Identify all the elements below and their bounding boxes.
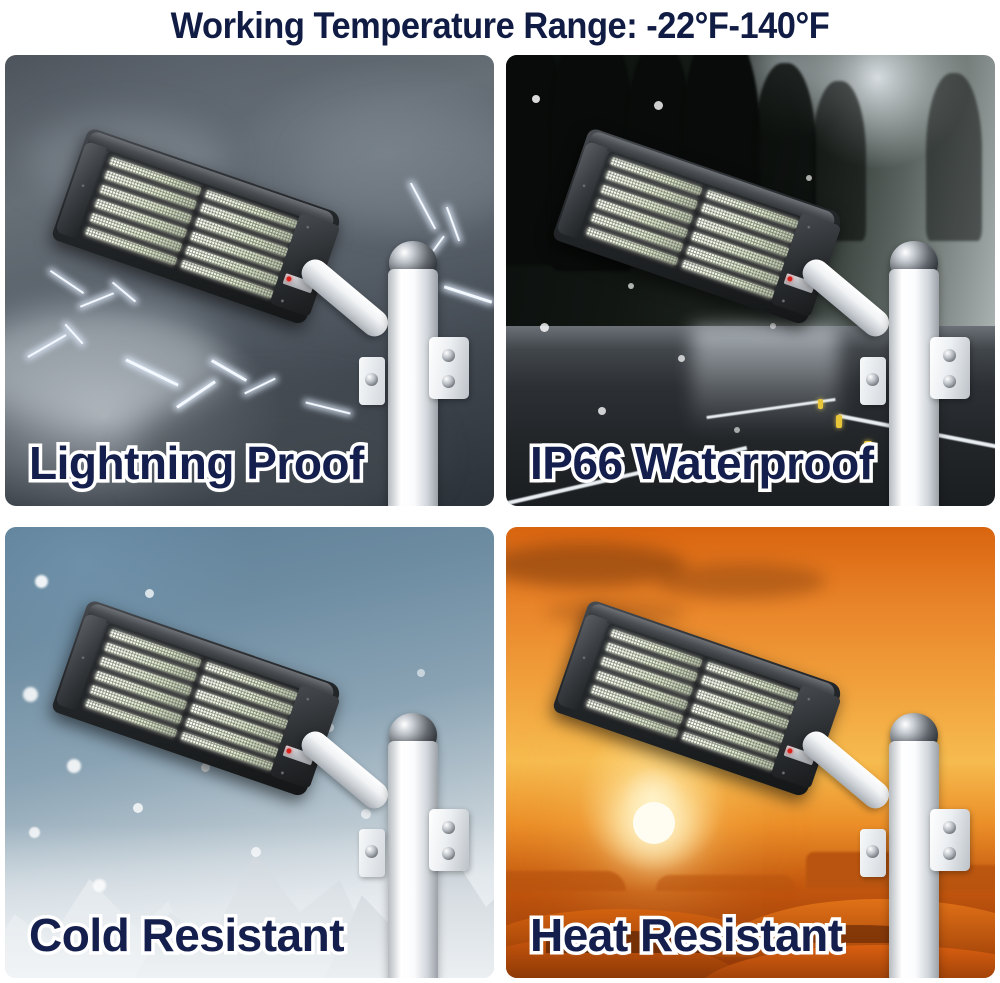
infographic-page: Working Temperature Range: -22°F-140°F (0, 0, 1000, 983)
u-bolt-icon (866, 373, 879, 386)
u-bolt-icon (365, 845, 378, 858)
feature-panel-grid: Lightning Proof (5, 55, 995, 978)
u-bolt-icon (442, 375, 455, 388)
panel-caption: Lightning Proof (29, 436, 364, 490)
mounting-bracket (429, 337, 469, 399)
mounting-bracket (930, 809, 970, 871)
panel-caption: Heat Resistant (530, 908, 843, 962)
panel-caption: IP66 Waterproof (530, 436, 874, 490)
u-bolt-icon (442, 821, 455, 834)
light-fixture-housing (548, 599, 843, 807)
feature-panel-cold-resistant[interactable]: Cold Resistant (5, 527, 494, 978)
u-bolt-icon (866, 845, 879, 858)
feature-panel-lightning-proof[interactable]: Lightning Proof (5, 55, 494, 506)
u-bolt-icon (943, 349, 956, 362)
mounting-bracket (930, 337, 970, 399)
u-bolt-icon (943, 821, 956, 834)
mounting-bracket (429, 809, 469, 871)
u-bolt-icon (943, 847, 956, 860)
panel-caption: Cold Resistant (29, 908, 344, 962)
light-fixture-housing (47, 599, 342, 807)
u-bolt-icon (442, 349, 455, 362)
u-bolt-icon (943, 375, 956, 388)
light-fixture-housing (47, 127, 342, 335)
feature-panel-heat-resistant[interactable]: Heat Resistant (506, 527, 995, 978)
u-bolt-icon (442, 847, 455, 860)
u-bolt-icon (365, 373, 378, 386)
feature-panel-ip66-waterproof[interactable]: IP66 Waterproof (506, 55, 995, 506)
page-title: Working Temperature Range: -22°F-140°F (35, 0, 965, 52)
light-fixture-housing (548, 127, 843, 335)
